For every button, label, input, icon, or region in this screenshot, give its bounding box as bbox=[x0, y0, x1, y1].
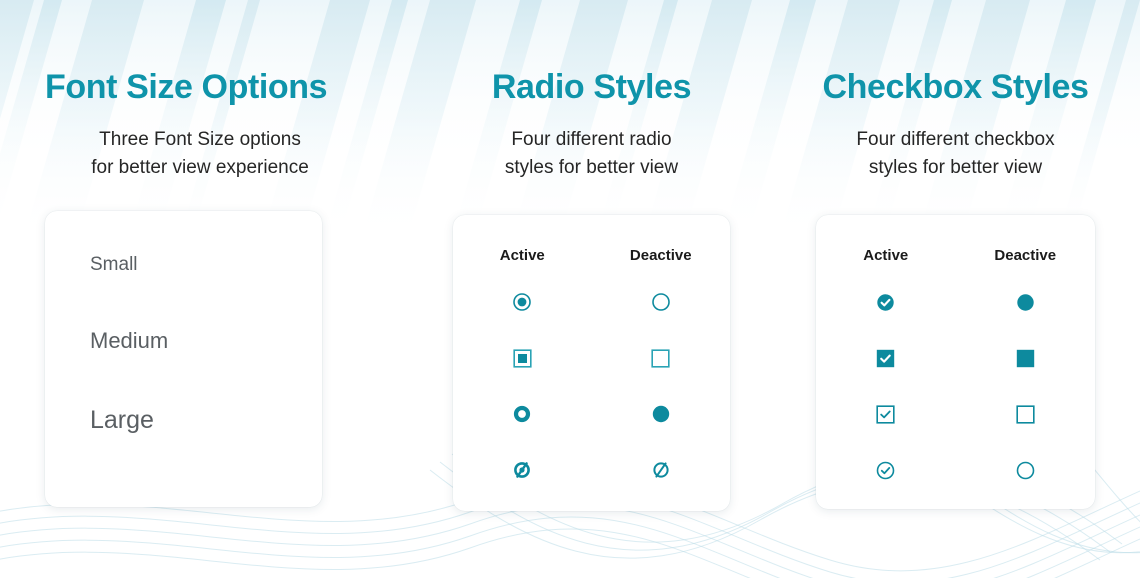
radio-ring-dot-icon[interactable] bbox=[512, 292, 532, 312]
radio-ring-empty-icon[interactable] bbox=[651, 292, 671, 312]
checkbox-row bbox=[816, 290, 1095, 314]
subtitle-font-size-options: Three Font Size options for better view … bbox=[45, 104, 355, 181]
checkbox-cell-deactive[interactable] bbox=[956, 290, 1096, 314]
radio-square-filled-icon[interactable] bbox=[513, 349, 532, 368]
radio-row bbox=[453, 346, 730, 370]
radio-cell-deactive[interactable] bbox=[592, 458, 731, 482]
radio-donut-icon[interactable] bbox=[513, 405, 531, 423]
check-square-filled-icon[interactable] bbox=[876, 349, 895, 368]
radio-cell-active[interactable] bbox=[453, 346, 592, 370]
checkbox-cell-active[interactable] bbox=[816, 402, 956, 426]
radio-square-empty-icon[interactable] bbox=[651, 349, 670, 368]
subtitle-checkbox-styles: Four different checkbox styles for bette… bbox=[786, 104, 1126, 181]
checkbox-cell-active[interactable] bbox=[816, 290, 956, 314]
card-radio-styles: Active Deactive bbox=[453, 215, 730, 511]
square-filled-icon[interactable] bbox=[1016, 349, 1035, 368]
radio-slashed-circle-empty-icon[interactable] bbox=[651, 460, 671, 480]
circle-filled-icon[interactable] bbox=[1016, 293, 1035, 312]
page-title-radio-styles: Radio Styles bbox=[418, 0, 765, 104]
radio-cell-deactive[interactable] bbox=[592, 290, 731, 314]
font-size-option-medium[interactable]: Medium bbox=[90, 330, 322, 352]
column-font-size-options: Font Size Options Three Font Size option… bbox=[0, 0, 400, 578]
square-outline-icon[interactable] bbox=[1016, 405, 1035, 424]
page-title-checkbox-styles: Checkbox Styles bbox=[771, 0, 1140, 104]
circle-outline-icon[interactable] bbox=[1016, 461, 1035, 480]
checkbox-row bbox=[816, 458, 1095, 482]
checkbox-row bbox=[816, 346, 1095, 370]
radio-column-headers: Active Deactive bbox=[453, 215, 730, 264]
radio-cell-active[interactable] bbox=[453, 458, 592, 482]
checkbox-cell-active[interactable] bbox=[816, 346, 956, 370]
columns-container: Font Size Options Three Font Size option… bbox=[0, 0, 1140, 578]
card-checkbox-styles: Active Deactive bbox=[816, 215, 1095, 509]
column-checkbox-styles: Checkbox Styles Four different checkbox … bbox=[765, 0, 1140, 578]
radio-cell-deactive[interactable] bbox=[592, 402, 731, 426]
radio-dot-filled-icon[interactable] bbox=[651, 404, 671, 424]
card-font-size-list: Small Medium Large bbox=[45, 211, 322, 507]
radio-slashed-circle-filled-icon[interactable] bbox=[512, 460, 532, 480]
check-circle-outline-icon[interactable] bbox=[876, 461, 895, 480]
radio-header-active: Active bbox=[453, 247, 592, 264]
radio-cell-deactive[interactable] bbox=[592, 346, 731, 370]
radio-cell-active[interactable] bbox=[453, 290, 592, 314]
font-size-option-large[interactable]: Large bbox=[90, 408, 322, 433]
font-size-option-small[interactable]: Small bbox=[90, 255, 322, 274]
column-radio-styles: Radio Styles Four different radio styles… bbox=[400, 0, 765, 578]
check-circle-filled-icon[interactable] bbox=[876, 293, 895, 312]
checkbox-header-deactive: Deactive bbox=[956, 247, 1096, 264]
page-title-font-size-options: Font Size Options bbox=[45, 0, 400, 104]
radio-header-deactive: Deactive bbox=[592, 247, 731, 264]
radio-cell-active[interactable] bbox=[453, 402, 592, 426]
checkbox-cell-active[interactable] bbox=[816, 458, 956, 482]
checkbox-cell-deactive[interactable] bbox=[956, 402, 1096, 426]
checkbox-row bbox=[816, 402, 1095, 426]
radio-row bbox=[453, 290, 730, 314]
checkbox-cell-deactive[interactable] bbox=[956, 458, 1096, 482]
checkbox-cell-deactive[interactable] bbox=[956, 346, 1096, 370]
subtitle-radio-styles: Four different radio styles for better v… bbox=[437, 104, 747, 181]
checkbox-column-headers: Active Deactive bbox=[816, 215, 1095, 264]
radio-row bbox=[453, 402, 730, 426]
radio-row bbox=[453, 458, 730, 482]
check-square-outline-icon[interactable] bbox=[876, 405, 895, 424]
checkbox-header-active: Active bbox=[816, 247, 956, 264]
